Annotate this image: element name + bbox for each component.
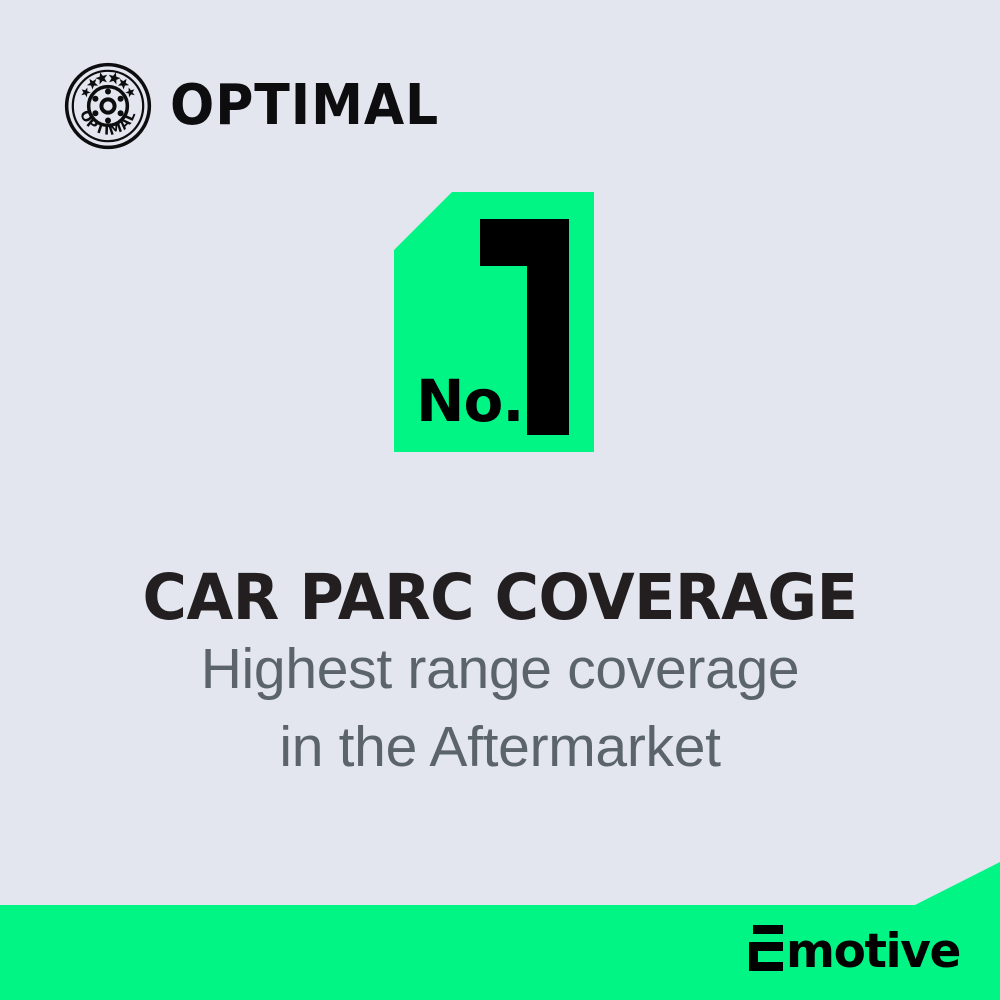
footer-banner: motive [0, 862, 1000, 1000]
brand-lockup: OPTIMAL OPTIMAL [64, 62, 459, 150]
rank-prefix-label: No. [416, 372, 523, 430]
emotive-logo-text: motive [786, 932, 960, 971]
page-title: CAR PARC COVERAGE [20, 566, 980, 630]
optimal-wordmark: OPTIMAL [170, 78, 439, 134]
subtitle: Highest range coverage in the Aftermarke… [0, 630, 1000, 786]
optimal-circular-emblem-icon: OPTIMAL [64, 62, 152, 150]
promotional-poster: OPTIMAL OPTIMAL No. CAR PARC COVERAGE Hi… [0, 0, 1000, 1000]
emotive-logo: motive [749, 925, 960, 971]
numeral-stem [527, 219, 569, 435]
rank-badge: No. [394, 192, 594, 452]
subtitle-line-1: Highest range coverage [0, 630, 1000, 708]
emotive-e-mark-icon [749, 925, 783, 971]
subtitle-line-2: in the Aftermarket [0, 708, 1000, 786]
